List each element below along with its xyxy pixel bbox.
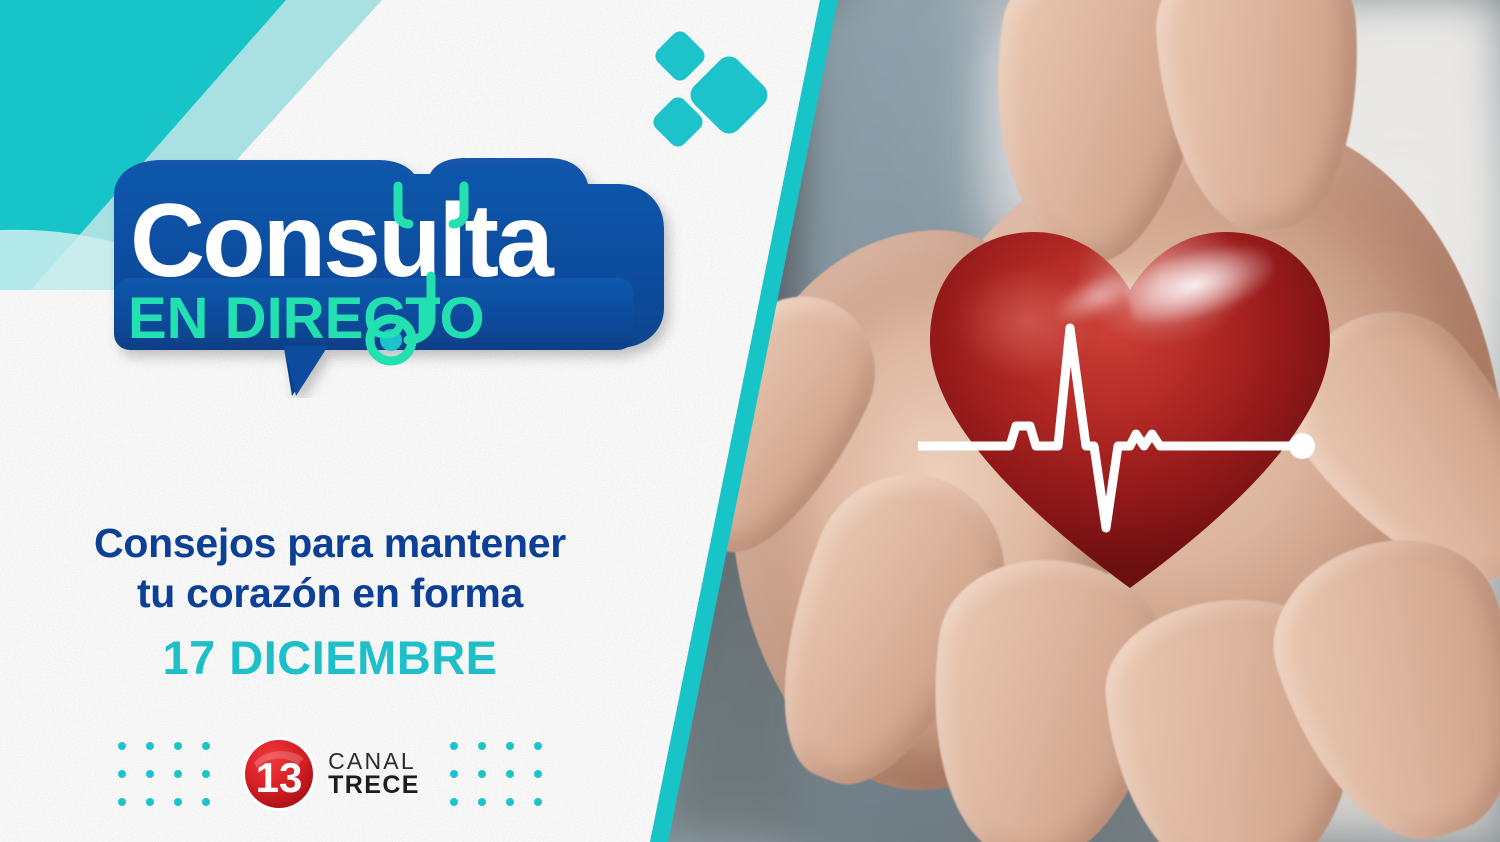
dot [450,770,458,778]
dot [202,770,210,778]
dot [146,798,154,806]
dot [478,798,486,806]
channel-name-line-2: TRECE [328,773,420,798]
dot-grid-left [118,742,210,806]
channel-name-line-1: CANAL [328,750,420,773]
dot [478,742,486,750]
program-logo: Consulta EN DIRECTO [78,158,698,398]
dot [146,770,154,778]
dot [202,742,210,750]
dot [118,798,126,806]
dot [174,770,182,778]
headline-line-1: Consejos para mantener [94,520,566,566]
headline-line-2: tu corazón en forma [0,568,660,618]
channel-number: 13 [256,754,303,801]
page-title: Consejos para mantener tu corazón en for… [0,518,660,618]
logo-word-top: Consulta [130,183,555,299]
channel-name: CANAL TRECE [328,750,420,798]
dot [174,798,182,806]
red-heart [930,228,1330,588]
dot [478,770,486,778]
dot [174,742,182,750]
broadcast-date: 17 DICIEMBRE [0,630,660,685]
dot [506,770,514,778]
dot [450,798,458,806]
promo-graphic: Consulta EN DIRECTO Consejos para manten… [0,0,1500,842]
dot [118,742,126,750]
channel-13-badge-icon: 13 [240,735,318,813]
dot [534,742,542,750]
logo-artwork: Consulta EN DIRECTO [78,158,698,398]
dot [534,770,542,778]
dot [506,742,514,750]
logo-word-bottom: EN DIRECTO [128,286,485,351]
dot [202,798,210,806]
dot [534,798,542,806]
channel-logo: 13 CANAL TRECE [240,735,420,813]
footer-bar: 13 CANAL TRECE [0,726,660,822]
dot [146,742,154,750]
dot [118,770,126,778]
dot-grid-right [450,742,542,806]
dot [506,798,514,806]
dot [450,742,458,750]
